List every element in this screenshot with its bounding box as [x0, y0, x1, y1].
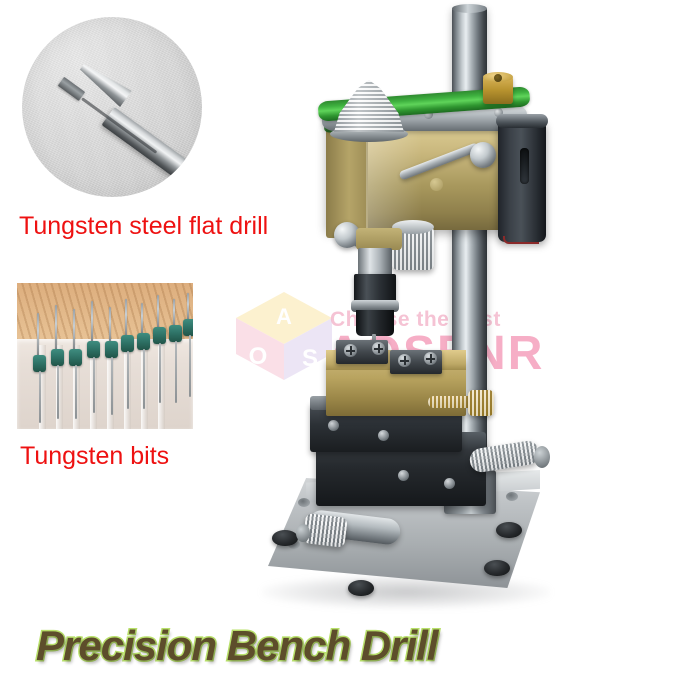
vise-jaw-screw [344, 344, 357, 357]
motor-top-cap [496, 114, 548, 128]
bench-drill-product-photo [248, 0, 588, 640]
y-axis-micrometer-cap [296, 524, 310, 542]
base-mounting-hole [506, 492, 518, 501]
base-mounting-hole [298, 498, 310, 507]
inset-photo-tungsten-steel-flat-drill [22, 17, 202, 197]
slide-screw [444, 478, 455, 489]
inset-photo-tungsten-bits [17, 283, 193, 429]
tensioner-set-screw[interactable] [494, 74, 502, 82]
drill-chuck-nose [356, 310, 394, 336]
drill-chuck-body[interactable] [354, 274, 396, 302]
motor-power-wire [503, 236, 539, 244]
slide-screw [398, 470, 409, 481]
slide-screw [328, 420, 339, 431]
rubber-foot [348, 580, 374, 596]
rubber-foot [272, 530, 298, 546]
quill-collar [356, 228, 402, 250]
vise-jaw-screw [424, 352, 437, 365]
product-title: Precision Bench Drill [36, 622, 437, 670]
column-top-cap [452, 4, 487, 13]
title-banner: Precision Bench Drill [0, 622, 700, 684]
wood-background [17, 283, 193, 345]
rubber-foot [496, 522, 522, 538]
rubber-foot [484, 560, 510, 576]
head-face-bolt [430, 178, 443, 191]
depth-lever-knob[interactable] [470, 142, 496, 168]
label-tungsten-steel-flat-drill: Tungsten steel flat drill [19, 212, 268, 241]
label-tungsten-bits: Tungsten bits [20, 442, 169, 471]
vise-jaw-screw [398, 354, 411, 367]
vise-jaw-screw [372, 342, 385, 355]
product-image-canvas: A O S Choose the best AOSENR Tungsten st… [0, 0, 700, 700]
x-axis-micrometer-cap [534, 446, 550, 468]
motor-vent-slot [520, 148, 529, 184]
slide-screw [378, 430, 389, 441]
vise-clamp-knob[interactable] [468, 390, 494, 416]
